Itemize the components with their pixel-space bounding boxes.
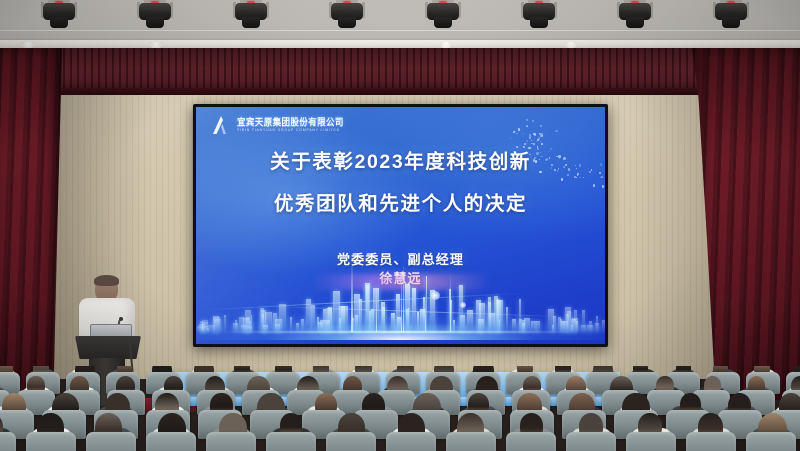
auditorium-seat <box>206 432 256 451</box>
auditorium-seat <box>26 432 76 451</box>
auditorium-seat <box>0 432 16 451</box>
slide-skyline-graphic <box>196 266 605 344</box>
slide-logo: 宜宾天原集团股份有限公司 YIBIN TIANYUAN GROUP COMPAN… <box>210 115 344 135</box>
particle-dot <box>539 133 540 134</box>
particle-dot <box>516 133 517 134</box>
particle-dot <box>531 143 532 144</box>
particle-dot <box>513 131 515 133</box>
spotlight-fixture <box>616 0 654 34</box>
auditorium-seat <box>86 432 136 451</box>
audience-area <box>0 366 800 451</box>
skyline-horizon-line <box>221 331 581 333</box>
auditorium-seat <box>746 432 796 451</box>
particle-dot <box>529 136 531 138</box>
particle-dot <box>533 143 535 145</box>
tianyuan-chevron-mark-icon <box>210 115 232 135</box>
particle-dot <box>529 134 531 136</box>
ceiling <box>0 0 800 42</box>
particle-dot <box>527 143 528 144</box>
particle-dot <box>528 147 530 149</box>
particle-dot <box>533 133 535 135</box>
auditorium-seat <box>386 432 436 451</box>
curtain-left <box>0 48 62 398</box>
particle-dot <box>555 130 558 133</box>
company-name-en: YIBIN TIANYUAN GROUP COMPANY LIMITED <box>237 129 344 132</box>
particle-dot <box>523 133 524 134</box>
spotlight-fixture <box>232 0 270 34</box>
particle-dot <box>510 138 511 139</box>
particle-dot <box>523 146 525 148</box>
skyline-horizon-glow <box>196 310 605 340</box>
particle-dot <box>538 137 540 139</box>
particle-dot <box>516 146 518 148</box>
microphone-head <box>119 317 123 321</box>
auditorium-seat <box>686 432 736 451</box>
auditorium-seat <box>266 432 316 451</box>
curtain-valance-edge <box>0 88 800 95</box>
particle-dot <box>534 134 536 136</box>
slide-logo-text: 宜宾天原集团股份有限公司 YIBIN TIANYUAN GROUP COMPAN… <box>237 118 344 132</box>
particle-dot <box>515 131 516 132</box>
particle-dot <box>527 126 528 127</box>
auditorium-seat <box>446 432 496 451</box>
particle-dot <box>518 128 521 131</box>
led-screen: 宜宾天原集团股份有限公司 YIBIN TIANYUAN GROUP COMPAN… <box>196 107 605 344</box>
skyline-orb <box>431 291 440 300</box>
particle-dot <box>541 143 542 144</box>
spotlight-fixture <box>520 0 558 34</box>
speaker-hair <box>94 275 119 286</box>
particle-dot <box>531 140 532 141</box>
spotlight-fixture <box>712 0 750 34</box>
particle-dot <box>526 125 529 128</box>
auditorium-seat <box>566 432 616 451</box>
particle-dot <box>532 120 534 122</box>
led-screen-frame: 宜宾天原集团股份有限公司 YIBIN TIANYUAN GROUP COMPAN… <box>193 104 608 347</box>
particle-dot <box>540 141 541 142</box>
particle-dot <box>550 148 552 150</box>
particle-dot <box>523 146 524 147</box>
auditorium-photo: 宜宾天原集团股份有限公司 YIBIN TIANYUAN GROUP COMPAN… <box>0 0 800 451</box>
particle-dot <box>541 133 543 135</box>
particle-dot <box>537 146 539 148</box>
particle-dot <box>526 119 528 121</box>
particle-dot <box>531 143 532 144</box>
auditorium-seat <box>326 432 376 451</box>
auditorium-seat <box>146 432 196 451</box>
particle-dot <box>540 125 542 127</box>
particle-dot <box>540 135 542 137</box>
spotlight-fixture <box>40 0 78 34</box>
particle-dot <box>536 141 537 142</box>
spotlight-fixture <box>136 0 174 34</box>
particle-dot <box>539 133 541 135</box>
particle-dot <box>524 143 526 145</box>
particle-dot <box>526 140 528 142</box>
company-name-cn: 宜宾天原集团股份有限公司 <box>237 117 344 127</box>
slide-title-line-2: 优秀团队和先进个人的决定 <box>196 195 605 215</box>
auditorium-seat <box>506 432 556 451</box>
particle-dot <box>537 139 539 141</box>
spotlight-fixture <box>328 0 366 34</box>
slide-title: 关于表彰2023年度科技创新 优秀团队和先进个人的决定 <box>196 153 605 236</box>
particle-dot <box>537 148 539 150</box>
auditorium-seat <box>626 432 676 451</box>
spotlight-fixture <box>424 0 462 34</box>
skyline-orb <box>460 302 466 308</box>
slide-title-line-1: 关于表彰2023年度科技创新 <box>196 153 605 173</box>
ceiling-seam <box>0 30 800 31</box>
